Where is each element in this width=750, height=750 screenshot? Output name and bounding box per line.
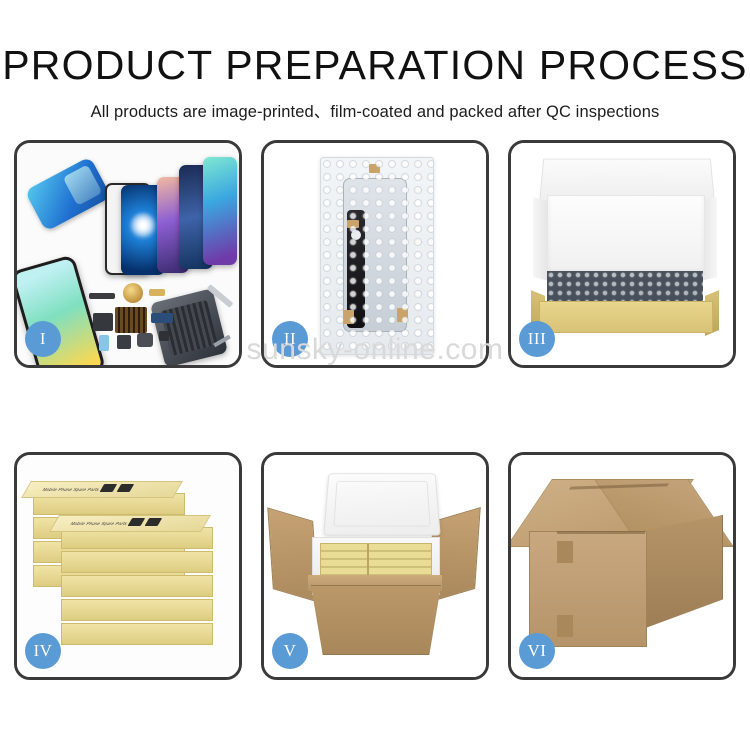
phone-back-internals xyxy=(150,288,228,365)
component-flex-cable xyxy=(151,313,173,323)
foam-lid xyxy=(323,473,440,535)
label-screen-image xyxy=(145,518,163,526)
carton-front xyxy=(302,585,450,655)
stacked-box: Mobile Phone Spare Parts xyxy=(33,493,185,515)
component-gold-flex xyxy=(149,289,165,296)
step-badge-5: V xyxy=(272,633,308,669)
yellow-box-front xyxy=(539,301,713,333)
component-camera xyxy=(117,335,131,349)
lcd-screen-teal xyxy=(203,157,237,265)
carton-side-face xyxy=(643,515,723,629)
component-battery xyxy=(99,335,109,351)
blue-phone-housing xyxy=(25,156,112,231)
label-screen-image xyxy=(117,484,135,492)
carton-front-face xyxy=(529,531,647,647)
bubble-texture-overlay xyxy=(321,158,433,354)
page-title: PRODUCT PREPARATION PROCESS xyxy=(0,0,750,87)
stacked-box: Mobile Phone Spare Parts xyxy=(61,527,213,549)
white-foam-sheet xyxy=(547,195,705,275)
process-step-card-5: V xyxy=(261,452,489,680)
process-step-grid: I II xyxy=(14,140,736,680)
component-connector xyxy=(89,293,115,299)
step-badge-6: VI xyxy=(519,633,555,669)
process-step-card-6: VI xyxy=(508,452,736,680)
header: PRODUCT PREPARATION PROCESS All products… xyxy=(0,0,750,122)
carton-edge-seam xyxy=(557,531,645,534)
stacked-box xyxy=(61,623,213,645)
label-screen-image xyxy=(100,484,118,492)
bubble-wrap-filling xyxy=(547,271,703,303)
component-speaker xyxy=(123,283,143,303)
box-label-text: Mobile Phone Spare Parts xyxy=(70,521,129,526)
page-subtitle: All products are image-printed、film-coat… xyxy=(0,87,750,122)
box-label: Mobile Phone Spare Parts xyxy=(37,484,178,495)
step-badge-2: II xyxy=(272,321,308,357)
step-badge-4: IV xyxy=(25,633,61,669)
process-step-card-2: II xyxy=(261,140,489,368)
stacked-box xyxy=(61,575,213,597)
component-module xyxy=(93,313,113,331)
stacked-box xyxy=(61,599,213,621)
process-step-card-4: Mobile Phone Spare Parts Mobile Phone Sp… xyxy=(14,452,242,680)
carton-tape-lower xyxy=(557,615,573,637)
component-screw-pack xyxy=(159,331,169,341)
process-step-card-1: I xyxy=(14,140,242,368)
bubble-wrap-bag xyxy=(320,157,434,355)
stacked-box xyxy=(61,551,213,573)
step-badge-3: III xyxy=(519,321,555,357)
box-stack: Mobile Phone Spare Parts Mobile Phone Sp… xyxy=(27,471,227,661)
box-label-text: Mobile Phone Spare Parts xyxy=(42,487,101,492)
product-preparation-infographic: PRODUCT PREPARATION PROCESS All products… xyxy=(0,0,750,750)
carton-tape-upper xyxy=(557,541,573,563)
process-step-card-3: III xyxy=(508,140,736,368)
label-screen-image xyxy=(128,518,146,526)
component-vibrator xyxy=(137,333,153,347)
step-badge-1: I xyxy=(25,321,61,357)
component-chip-array xyxy=(115,307,147,333)
box-label: Mobile Phone Spare Parts xyxy=(65,518,206,529)
